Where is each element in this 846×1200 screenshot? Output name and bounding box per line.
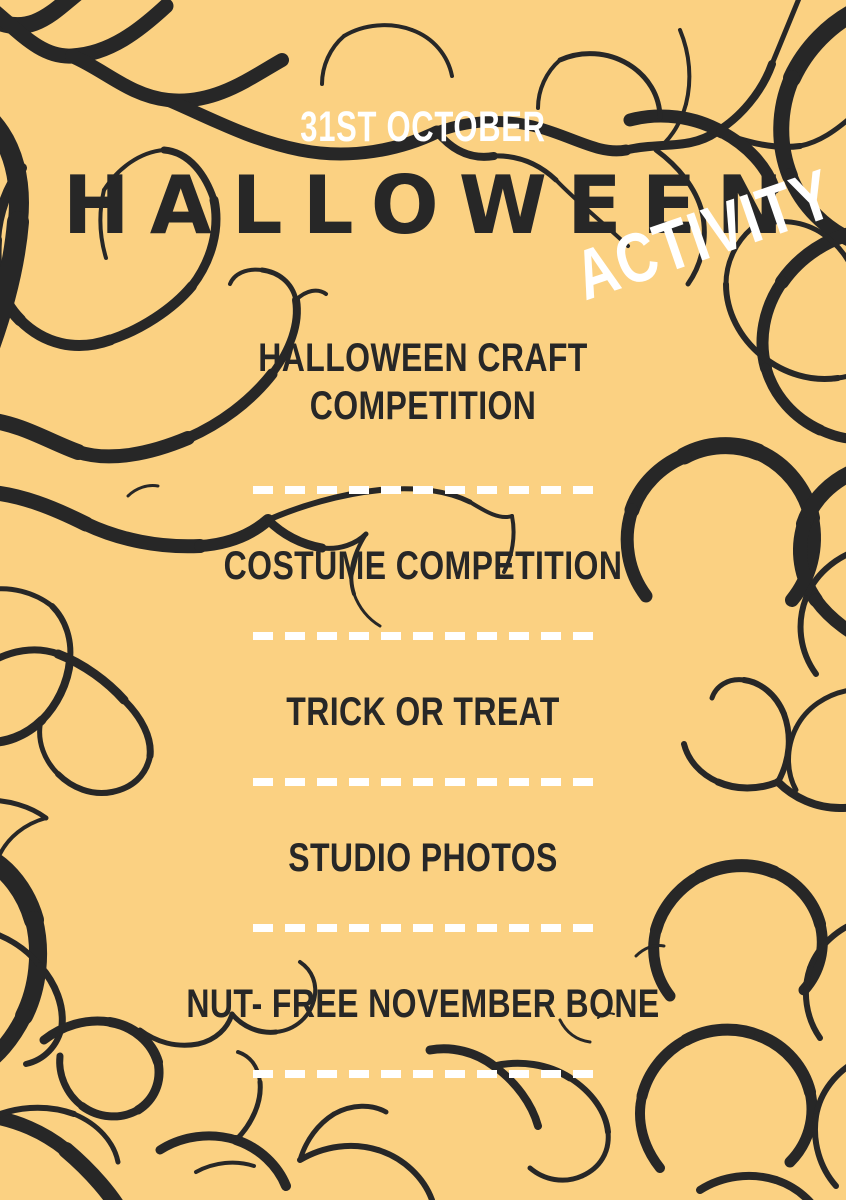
spacer [0, 494, 846, 542]
list-item: TRICK OR TREAT [0, 640, 846, 786]
spacer [0, 590, 846, 632]
halloween-activity-poster: 31ST OCTOBER HALLOWEEN ACTIVITY HALLOWEE… [0, 0, 846, 1200]
dashed-divider [253, 924, 593, 932]
spacer [0, 932, 846, 980]
dashed-divider [253, 778, 593, 786]
dashed-divider [253, 1070, 593, 1078]
activity-label: HALLOWEEN CRAFT COMPETITION [85, 334, 762, 430]
dashed-divider [253, 632, 593, 640]
list-item: NUT- FREE NOVEMBER BONE [0, 932, 846, 1078]
activity-label: TRICK OR TREAT [85, 688, 762, 736]
dashed-divider [253, 486, 593, 494]
activity-label: STUDIO PHOTOS [85, 834, 762, 882]
spacer [0, 640, 846, 688]
activity-label: NUT- FREE NOVEMBER BONE [85, 980, 762, 1028]
spacer [0, 736, 846, 778]
list-item: HALLOWEEN CRAFT COMPETITION [0, 334, 846, 494]
spacer [0, 882, 846, 924]
spacer [0, 1028, 846, 1070]
poster-header: 31ST OCTOBER HALLOWEEN ACTIVITY [0, 0, 846, 330]
activity-list: HALLOWEEN CRAFT COMPETITION COSTUME COMP… [0, 334, 846, 1078]
list-item: STUDIO PHOTOS [0, 786, 846, 932]
spacer [0, 430, 846, 486]
activity-label: COSTUME COMPETITION [85, 542, 762, 590]
list-item: COSTUME COMPETITION [0, 494, 846, 640]
spacer [0, 786, 846, 834]
date-eyebrow: 31ST OCTOBER [118, 106, 727, 149]
